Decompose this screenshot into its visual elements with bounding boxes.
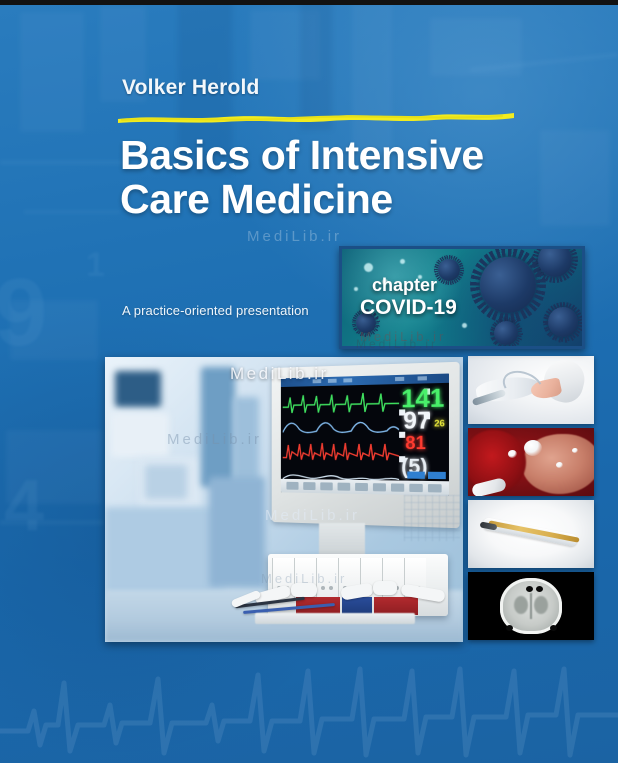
title-line-2: Care Medicine bbox=[120, 177, 560, 221]
thumbnail-brain-ct-scan bbox=[468, 572, 594, 640]
monitor-small-yellow-value: 26 bbox=[434, 419, 445, 428]
covid-banner-line-1: chapter bbox=[360, 275, 457, 296]
monitor-spo2: 97 bbox=[403, 409, 431, 434]
virus-particle-icon bbox=[494, 321, 518, 345]
arterial-waveform-red bbox=[283, 438, 399, 464]
virus-particle-icon bbox=[538, 246, 572, 277]
pump-base-shelf bbox=[255, 613, 415, 624]
monitor-blood-pressure: 81 bbox=[405, 434, 426, 452]
covid-chapter-banner: chapter COVID-19 MediLib.ir bbox=[339, 246, 585, 349]
covid-banner-text: chapter COVID-19 bbox=[360, 275, 457, 320]
top-black-bar bbox=[0, 0, 618, 5]
thumbnail-intubation-mannequin bbox=[468, 356, 594, 424]
book-subtitle: A practice-oriented presentation bbox=[122, 303, 309, 318]
book-title: Basics of Intensive Care Medicine bbox=[120, 133, 560, 222]
grid-paper-background bbox=[404, 495, 460, 541]
monitor-screen: 141 97 81 (5) 9 26 bbox=[281, 373, 449, 495]
thumbnail-strip bbox=[468, 356, 594, 643]
thumbnail-endoscopic-airway bbox=[468, 428, 594, 496]
author-name: Volker Herold bbox=[122, 76, 260, 100]
ecg-waveform-green bbox=[283, 387, 399, 415]
monitor-small-green-value: 9 bbox=[435, 399, 440, 407]
yellow-brush-stroke bbox=[116, 110, 516, 124]
spo2-waveform-blue bbox=[283, 414, 399, 439]
title-line-1: Basics of Intensive bbox=[120, 133, 560, 177]
thumbnail-catheter-introducer bbox=[468, 500, 594, 568]
virus-particle-icon bbox=[480, 257, 536, 313]
monitor-softkey-bar bbox=[281, 479, 449, 496]
book-cover: 9 4 1 Volker Herold Basics of Intensive … bbox=[0, 0, 618, 763]
covid-banner-line-2: COVID-19 bbox=[360, 296, 457, 320]
virus-particle-icon bbox=[548, 307, 578, 337]
icu-photo: MediLib.ir MediLib.ir MediLib.ir MediLib… bbox=[105, 357, 463, 642]
